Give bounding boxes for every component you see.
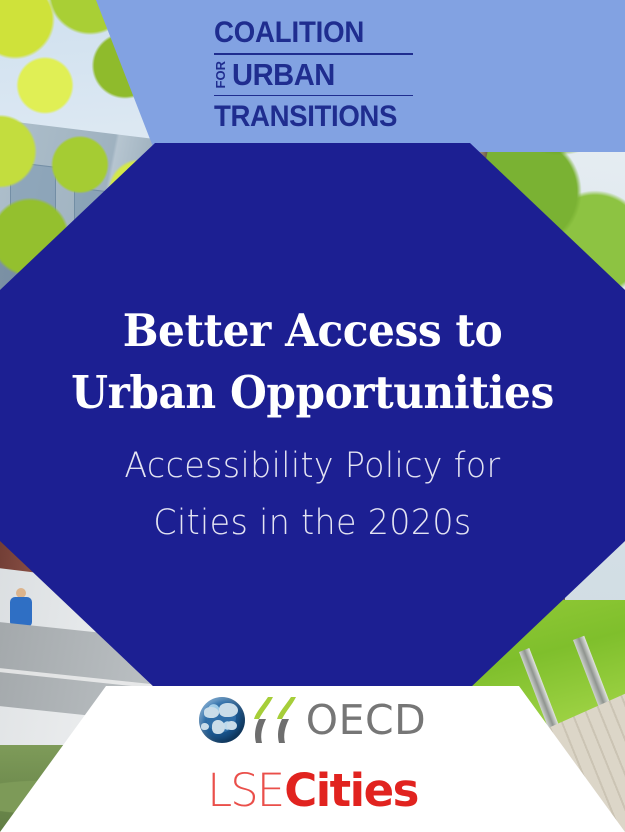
page-title-line-1: Better Access to bbox=[19, 300, 607, 362]
lse-wordmark-light: LSE bbox=[207, 764, 283, 817]
oecd-wordmark: OECD bbox=[306, 700, 426, 741]
lse-wordmark-bold: Cities bbox=[284, 764, 418, 817]
page-subtitle-line-2: Cities in the 2020s bbox=[16, 495, 610, 552]
coalition-for-urban-transitions-logo[interactable]: COALITION FOR URBAN TRANSITIONS bbox=[214, 18, 429, 133]
logo-line-urban: URBAN bbox=[232, 60, 335, 90]
oecd-logo[interactable]: OECD bbox=[0, 697, 625, 743]
logo-divider-bottom bbox=[214, 95, 413, 97]
double-chevron-icon bbox=[254, 697, 297, 743]
logo-line-coalition: COALITION bbox=[214, 18, 412, 48]
logo-word-for: FOR bbox=[214, 61, 227, 88]
page-subtitle-line-1: Accessibility Policy for bbox=[16, 438, 610, 495]
lse-cities-logo[interactable]: LSECities bbox=[0, 768, 625, 825]
report-cover: DAMATLIK www COALITION FOR URBAN TR bbox=[0, 0, 625, 832]
globe-icon bbox=[199, 697, 245, 743]
page-title-line-2: Urban Opportunities bbox=[19, 362, 607, 424]
logo-divider-top bbox=[214, 53, 413, 55]
logo-line-transitions: TRANSITIONS bbox=[214, 101, 412, 133]
title-block: Better Access to Urban Opportunities Acc… bbox=[0, 300, 625, 552]
